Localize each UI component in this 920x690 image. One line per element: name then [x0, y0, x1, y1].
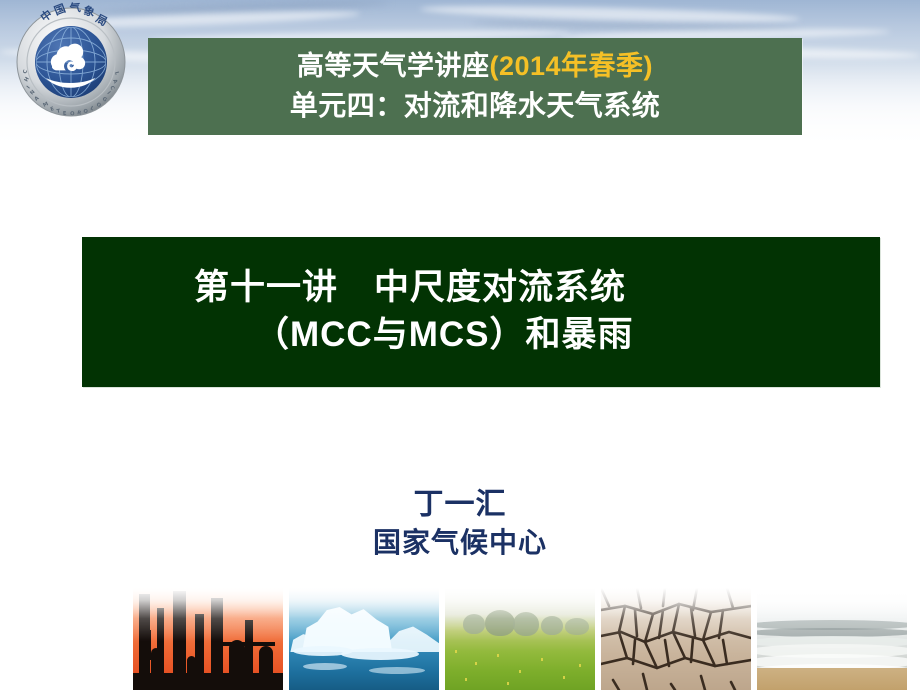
title-slide: 中 国 气 象 局 C H I N A M E T E O R O L	[0, 0, 920, 690]
author-organization: 国家气候中心	[0, 523, 920, 564]
cma-logo-icon: 中 国 气 象 局 C H I N A M E T E O R O L	[12, 2, 130, 120]
photo-drought	[601, 588, 751, 690]
header-term-label: (2014年春季)	[489, 51, 653, 81]
photo-iceberg	[289, 588, 439, 690]
lecture-title-line-1: 第十一讲 中尺度对流系统	[82, 265, 880, 312]
header-series-label: 高等天气学讲座	[297, 51, 490, 81]
lecture-title-block: 第十一讲 中尺度对流系统 （MCC与MCS）和暴雨	[82, 237, 880, 387]
header-line-1: 高等天气学讲座(2014年春季)	[297, 47, 653, 85]
header-banner: 高等天气学讲座(2014年春季) 单元四：对流和降水天气系统	[148, 38, 802, 135]
photo-field	[445, 588, 595, 690]
author-block: 丁一汇 国家气候中心	[0, 487, 920, 564]
photo-industry	[133, 588, 283, 690]
header-line-2: 单元四：对流和降水天气系统	[290, 86, 661, 126]
photo-beach	[757, 588, 907, 690]
svg-text:气: 气	[68, 2, 81, 15]
photo-strip	[133, 588, 920, 690]
svg-text:R: R	[77, 110, 82, 117]
author-name: 丁一汇	[0, 487, 920, 523]
lecture-title-line-2: （MCC与MCS）和暴雨	[82, 312, 880, 359]
